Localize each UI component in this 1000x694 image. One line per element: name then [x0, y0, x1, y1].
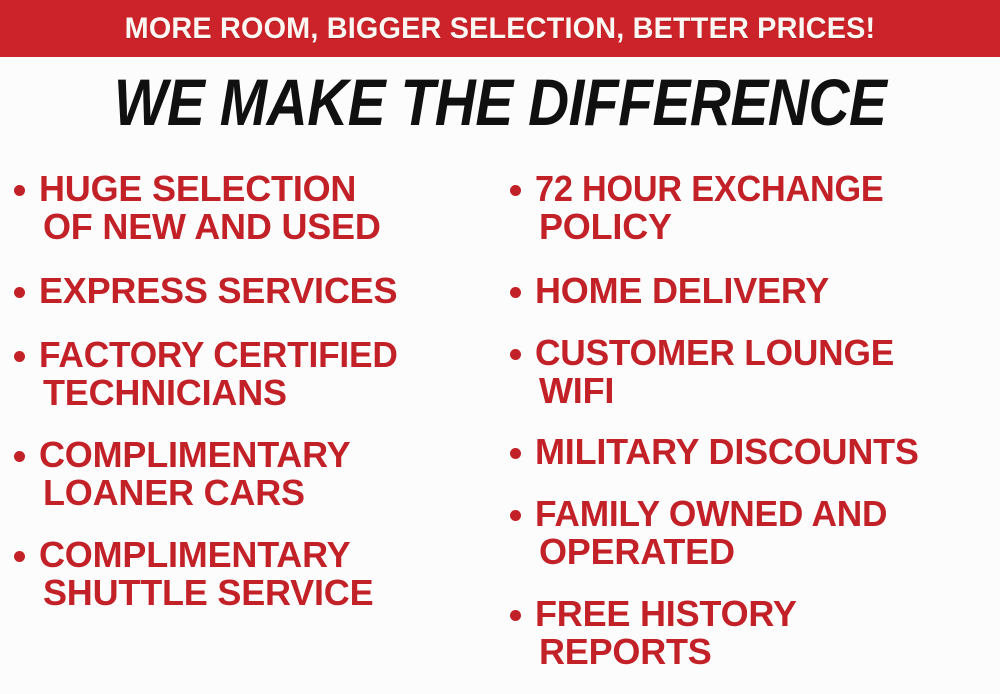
- list-item-line: FAMILY OWNED AND: [535, 495, 887, 533]
- list-item-text: FACTORY CERTIFIED TECHNICIANS: [39, 336, 500, 412]
- bullet-dot-icon: [510, 610, 521, 621]
- list-item-line: LOANER CARS: [39, 474, 500, 512]
- top-promo-banner-text: MORE ROOM, BIGGER SELECTION, BETTER PRIC…: [125, 14, 876, 44]
- bullet-dot-icon: [14, 351, 25, 362]
- list-item-text: MILITARY DISCOUNTS: [535, 433, 1000, 471]
- list-item: FACTORY CERTIFIED TECHNICIANS: [14, 336, 500, 412]
- list-item-line: CUSTOMER LOUNGE: [535, 334, 894, 372]
- list-item: EXPRESS SERVICES: [14, 272, 500, 310]
- bullet-dot-icon: [14, 287, 25, 298]
- dealership-benefits-banner: MORE ROOM, BIGGER SELECTION, BETTER PRIC…: [0, 0, 1000, 694]
- list-item-text: CUSTOMER LOUNGE WIFI: [535, 334, 1000, 410]
- list-item-line: COMPLIMENTARY: [39, 436, 500, 474]
- list-item-text: FAMILY OWNED AND OPERATED: [535, 495, 1000, 571]
- bullet-dot-icon: [510, 287, 521, 298]
- bullet-dot-icon: [14, 451, 25, 462]
- list-item: HUGE SELECTION OF NEW AND USED: [14, 170, 500, 246]
- headline-container: WE MAKE THE DIFFERENCE: [0, 68, 1000, 136]
- list-item-line: EXPRESS SERVICES: [39, 272, 500, 310]
- list-item-text: EXPRESS SERVICES: [39, 272, 500, 310]
- benefits-columns: HUGE SELECTION OF NEW AND USED EXPRESS S…: [0, 160, 1000, 694]
- list-item: HOME DELIVERY: [510, 272, 1000, 310]
- list-item-text: COMPLIMENTARY LOANER CARS: [39, 436, 500, 512]
- list-item-text: HOME DELIVERY: [535, 272, 1000, 310]
- bullet-dot-icon: [510, 185, 521, 196]
- list-item-line: HUGE SELECTION: [39, 170, 500, 208]
- benefits-column-left: HUGE SELECTION OF NEW AND USED EXPRESS S…: [14, 160, 500, 612]
- bullet-dot-icon: [14, 185, 25, 196]
- list-item-line: POLICY: [535, 208, 1000, 246]
- list-item: 72 HOUR EXCHANGE POLICY: [510, 170, 1000, 246]
- list-item-line: SHUTTLE SERVICE: [39, 574, 500, 612]
- list-item-line: OF NEW AND USED: [39, 208, 500, 246]
- list-item-text: COMPLIMENTARY SHUTTLE SERVICE: [39, 536, 500, 612]
- bullet-dot-icon: [510, 448, 521, 459]
- page-title: WE MAKE THE DIFFERENCE: [114, 69, 887, 135]
- list-item-line: FREE HISTORY: [535, 595, 1000, 633]
- list-item-line: MILITARY DISCOUNTS: [535, 433, 1000, 471]
- list-item-line: REPORTS: [535, 633, 1000, 671]
- list-item: COMPLIMENTARY LOANER CARS: [14, 436, 500, 512]
- list-item-text: HUGE SELECTION OF NEW AND USED: [39, 170, 500, 246]
- list-item-line: WIFI: [535, 372, 1000, 410]
- list-item-line: OPERATED: [535, 533, 1000, 571]
- list-item-line: FACTORY CERTIFIED: [39, 336, 398, 374]
- list-item-line: 72 HOUR EXCHANGE: [535, 170, 884, 208]
- list-item: MILITARY DISCOUNTS: [510, 433, 1000, 471]
- list-item-line: TECHNICIANS: [39, 374, 500, 412]
- list-item: CUSTOMER LOUNGE WIFI: [510, 334, 1000, 410]
- top-promo-banner: MORE ROOM, BIGGER SELECTION, BETTER PRIC…: [0, 0, 1000, 57]
- list-item-line: HOME DELIVERY: [535, 272, 1000, 310]
- list-item: COMPLIMENTARY SHUTTLE SERVICE: [14, 536, 500, 612]
- list-item-text: FREE HISTORY REPORTS: [535, 595, 1000, 671]
- list-item: FAMILY OWNED AND OPERATED: [510, 495, 1000, 571]
- bullet-dot-icon: [14, 551, 25, 562]
- bullet-dot-icon: [510, 349, 521, 360]
- benefits-column-right: 72 HOUR EXCHANGE POLICY HOME DELIVERY CU…: [510, 160, 1000, 671]
- bullet-dot-icon: [510, 510, 521, 521]
- list-item: FREE HISTORY REPORTS: [510, 595, 1000, 671]
- list-item-line: COMPLIMENTARY: [39, 536, 500, 574]
- list-item-text: 72 HOUR EXCHANGE POLICY: [535, 170, 1000, 246]
